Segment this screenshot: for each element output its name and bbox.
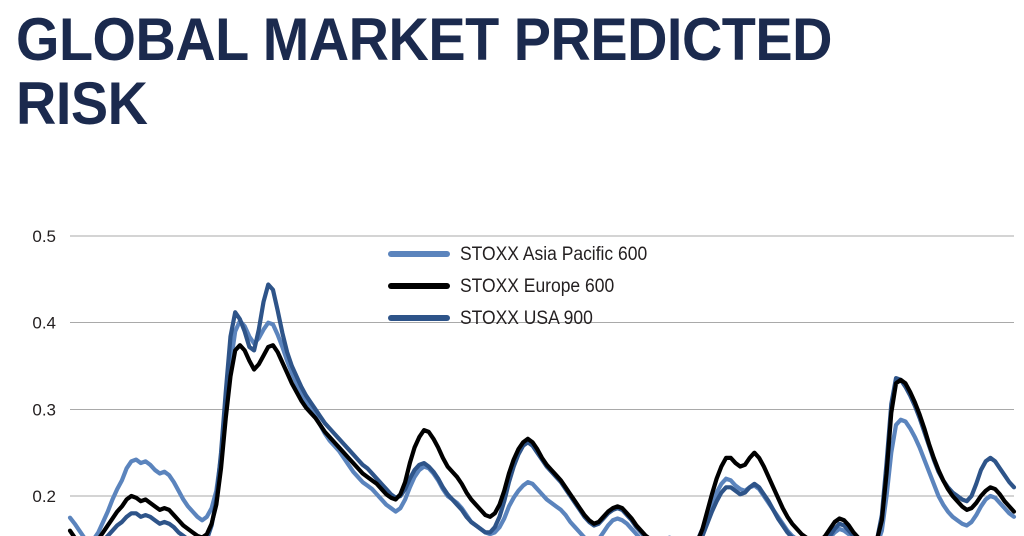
y-tick-label: 0.3	[32, 400, 56, 419]
legend-item-asia-pacific[interactable]: STOXX Asia Pacific 600	[388, 238, 688, 270]
page-title-text: GLOBAL MARKET PREDICTED RISK	[16, 8, 927, 136]
legend-swatch-asia-pacific	[388, 251, 450, 257]
page-title: GLOBAL MARKET PREDICTED RISK	[16, 8, 996, 136]
y-tick-label: 0.4	[32, 314, 56, 333]
legend-swatch-europe	[388, 283, 450, 289]
legend-label-asia-pacific: STOXX Asia Pacific 600	[460, 245, 647, 264]
legend-label-usa: STOXX USA 900	[460, 309, 593, 328]
chart-y-axis-labels: 0.50.40.30.2	[32, 227, 56, 506]
chart-page: GLOBAL MARKET PREDICTED RISK 0.50.40.30.…	[0, 0, 1024, 536]
legend-label-europe: STOXX Europe 600	[460, 277, 614, 296]
legend-item-europe[interactable]: STOXX Europe 600	[388, 270, 688, 302]
legend-item-usa[interactable]: STOXX USA 900	[388, 302, 688, 334]
chart-legend: STOXX Asia Pacific 600 STOXX Europe 600 …	[388, 238, 688, 334]
legend-swatch-usa	[388, 315, 450, 321]
y-tick-label: 0.2	[32, 487, 56, 506]
y-tick-label: 0.5	[32, 227, 56, 246]
series-line-stoxx-asia-pacific-600	[70, 321, 1014, 536]
